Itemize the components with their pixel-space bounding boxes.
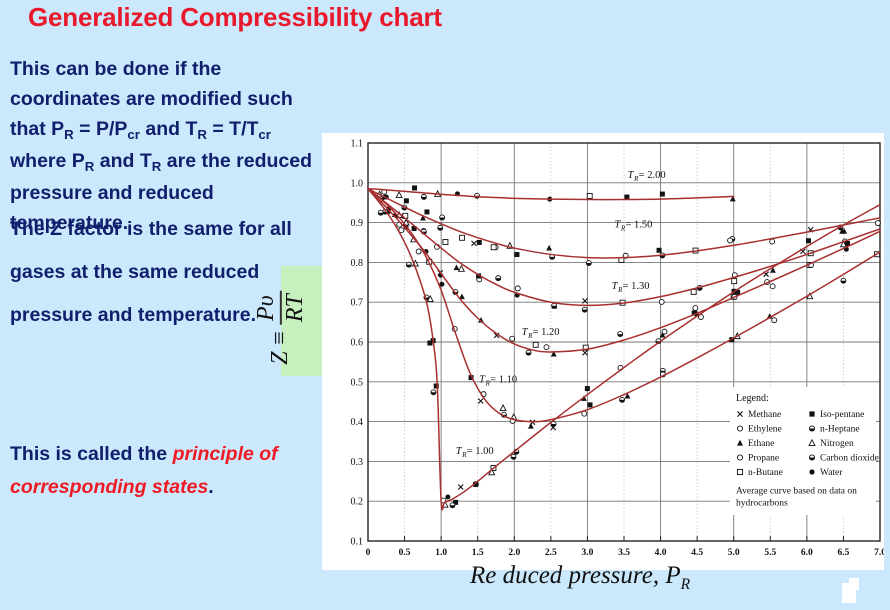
- marker-square-open: [491, 245, 496, 250]
- p1-seg-d: = T/T: [207, 118, 258, 140]
- formula-text: Z ≡ Pυ RT: [254, 291, 308, 365]
- y-tick-label: 0.9: [351, 218, 364, 229]
- page-title: Generalized Compressibility chart: [28, 2, 548, 33]
- p1-seg-f: and T: [94, 150, 151, 172]
- x-tick-label: 2.0: [508, 548, 520, 558]
- marker-square-filled: [588, 402, 593, 407]
- legend-label: Nitrogen: [820, 439, 854, 449]
- marker-square-filled: [514, 252, 519, 257]
- y-tick-label: 0.3: [351, 457, 364, 468]
- formula-equiv: ≡: [267, 330, 294, 346]
- curve-label-value: = 1.10: [490, 375, 517, 386]
- y-tick-label: 0.1: [351, 537, 364, 548]
- compressibility-chart-svg: 00.51.01.52.02.53.03.54.04.55.05.56.06.5…: [322, 133, 884, 570]
- formula-fraction: Pυ RT: [254, 291, 308, 325]
- p1-seg-e: where P: [10, 150, 85, 172]
- marker-circle-open: [693, 306, 698, 311]
- x-tick-label: 0: [366, 548, 371, 558]
- marker-circle-filled: [445, 494, 450, 499]
- p1-sub-cr1: cr: [127, 127, 140, 142]
- marker-square-filled: [412, 185, 417, 190]
- legend-label: Methane: [748, 410, 781, 420]
- p1-seg-b: = P/P: [74, 118, 128, 140]
- corner-artifact-secondary: [849, 578, 859, 590]
- x-axis-title-text: Re duced pressure, P: [470, 562, 681, 589]
- p3-seg-a: This is called the: [10, 443, 173, 465]
- legend-label: n-Heptane: [820, 425, 860, 435]
- y-tick-label: 1.0: [351, 178, 364, 189]
- x-tick-label: 5.0: [728, 548, 740, 558]
- x-tick-label: 5.5: [764, 548, 776, 558]
- chart-x-axis-title: Re duced pressure, PR: [470, 562, 690, 594]
- slide-canvas: Generalized Compressibility chart This c…: [0, 0, 890, 610]
- y-tick-label: 1.1: [351, 139, 364, 150]
- curve-label-value: = 1.00: [467, 446, 494, 457]
- x-tick-label: 4.0: [655, 548, 667, 558]
- curve-label-value: = 1.20: [533, 327, 560, 338]
- x-tick-label: 6.0: [801, 548, 813, 558]
- x-tick-label: 1.5: [472, 548, 484, 558]
- p3-seg-c: .: [208, 476, 213, 498]
- marker-circle-open: [510, 336, 515, 341]
- marker-square-filled: [404, 198, 409, 203]
- marker-circle-open: [728, 238, 733, 243]
- formula-numerator: Pυ: [254, 292, 279, 324]
- marker-circle-open: [737, 426, 742, 431]
- marker-square-open: [732, 279, 737, 284]
- y-tick-label: 0.2: [351, 497, 364, 508]
- p1-sub-r1: R: [64, 127, 74, 142]
- marker-square-filled: [424, 209, 429, 214]
- chart-legend: Legend:MethaneEthyleneEthanePropanen-But…: [730, 387, 879, 515]
- legend-title: Legend:: [736, 393, 769, 404]
- marker-square-filled: [660, 192, 665, 197]
- compressibility-chart-panel: 00.51.01.52.02.53.03.54.04.55.05.56.06.5…: [322, 133, 884, 570]
- p1-sub-r3: R: [85, 159, 95, 174]
- curve-label-value: = 1.50: [625, 219, 652, 230]
- x-tick-label: 3.0: [581, 548, 593, 558]
- curve-label-value: = 2.00: [639, 170, 666, 181]
- marker-square-filled: [657, 248, 662, 253]
- y-tick-label: 0.5: [351, 377, 364, 388]
- paragraph-principle: This is called the principle of correspo…: [10, 438, 310, 504]
- y-tick-label: 0.8: [351, 258, 364, 269]
- legend-label: Ethylene: [748, 425, 782, 435]
- x-axis-title-sub: R: [681, 576, 690, 593]
- x-tick-label: 0.5: [399, 548, 411, 558]
- formula-denominator: RT: [283, 291, 308, 325]
- p1-seg-c: and T: [140, 118, 197, 140]
- y-tick-label: 0.4: [351, 417, 364, 428]
- marker-circle-open: [770, 239, 775, 244]
- legend-label: Propane: [748, 454, 779, 464]
- p1-sub-r4: R: [152, 159, 162, 174]
- marker-square-open: [533, 342, 538, 347]
- marker-square-open: [587, 193, 592, 198]
- marker-circle-open: [875, 221, 880, 226]
- marker-square-open: [737, 469, 742, 474]
- curve-label-value: = 1.30: [623, 281, 650, 292]
- marker-square-filled: [806, 238, 811, 243]
- marker-circle-open: [515, 286, 520, 291]
- marker-square-open: [443, 239, 448, 244]
- legend-label: Water: [820, 468, 843, 478]
- x-tick-label: 1.0: [435, 548, 447, 558]
- p1-sub-cr2: cr: [258, 127, 271, 142]
- marker-circle-open: [416, 249, 421, 254]
- marker-square-open: [691, 289, 696, 294]
- legend-label: Iso-pentane: [820, 410, 864, 420]
- y-tick-label: 0.6: [351, 338, 364, 349]
- legend-label: n-Butane: [748, 468, 783, 478]
- legend-label: Carbon dioxide: [820, 454, 879, 464]
- p1-sub-r2: R: [197, 127, 207, 142]
- marker-circle-open: [544, 345, 549, 350]
- marker-square-filled: [809, 411, 814, 416]
- y-tick-label: 0.7: [351, 298, 364, 309]
- formula-z: Z: [267, 351, 294, 364]
- legend-note-line1: Average curve based on data on: [736, 487, 857, 497]
- chart-canvas: 00.51.01.52.02.53.03.54.04.55.05.56.06.5…: [322, 133, 884, 570]
- marker-circle-open: [737, 455, 742, 460]
- marker-circle-filled: [809, 469, 814, 474]
- x-tick-label: 2.5: [545, 548, 557, 558]
- x-tick-label: 6.5: [837, 548, 849, 558]
- marker-circle-open: [770, 284, 775, 289]
- legend-label: Ethane: [748, 439, 774, 449]
- x-tick-label: 7.0: [874, 548, 884, 558]
- x-tick-label: 4.5: [691, 548, 703, 558]
- legend-note-line2: hydrocarbons: [736, 499, 788, 509]
- marker-circle-open: [772, 318, 777, 323]
- marker-circle-open: [659, 299, 664, 304]
- x-tick-label: 3.5: [618, 548, 630, 558]
- marker-square-open: [460, 235, 465, 240]
- marker-square-filled: [477, 240, 482, 245]
- marker-square-filled: [585, 386, 590, 391]
